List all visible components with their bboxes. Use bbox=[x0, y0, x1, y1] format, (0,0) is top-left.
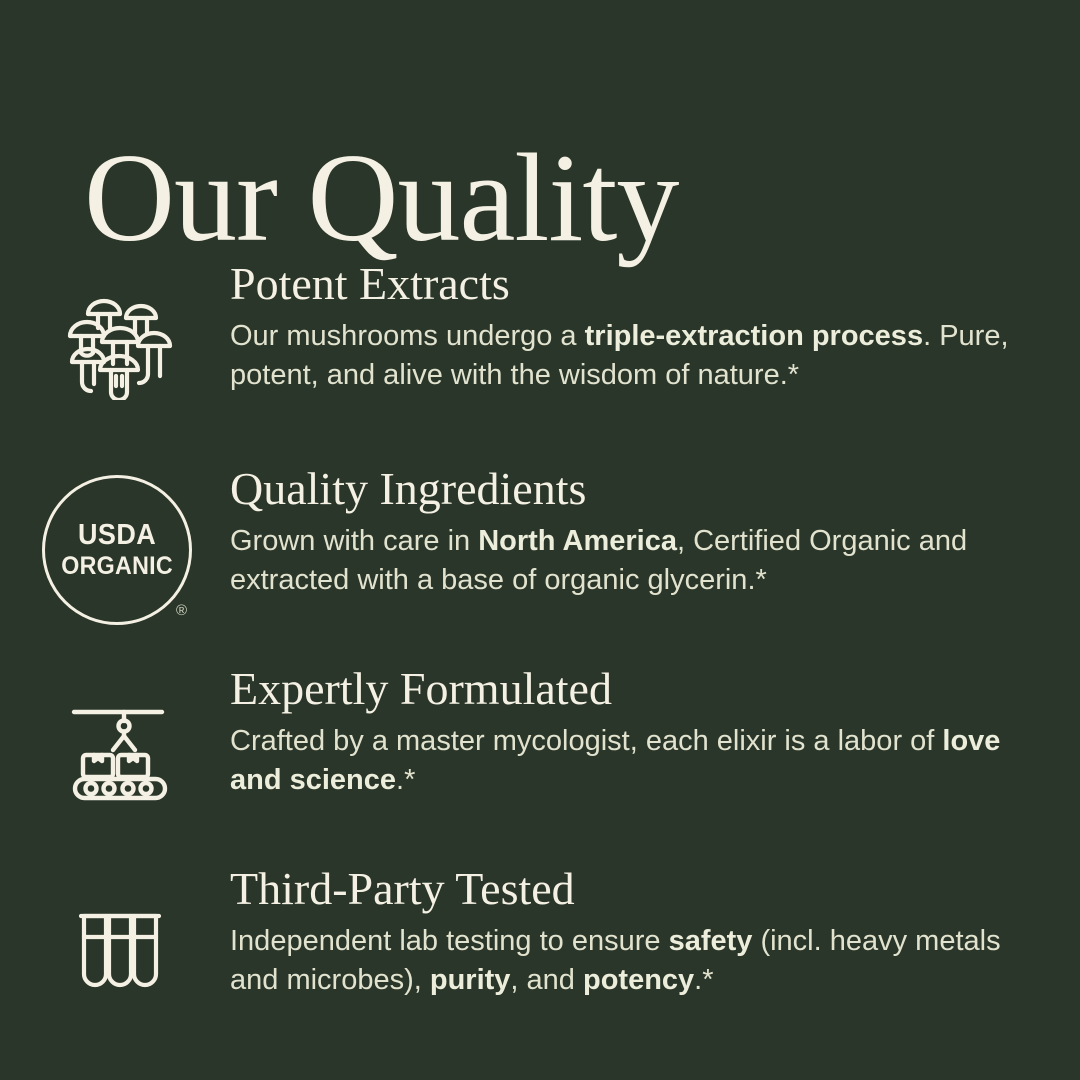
mushroom-cluster-icon bbox=[0, 248, 230, 448]
test-tubes-icon bbox=[0, 853, 230, 1053]
feature-text: Expertly Formulated Crafted by a master … bbox=[230, 653, 1080, 800]
feature-description: Grown with care in North America, Certif… bbox=[230, 522, 1030, 600]
page-title: Our Quality bbox=[84, 136, 678, 262]
feature-title: Quality Ingredients bbox=[230, 465, 1040, 514]
feature-title: Expertly Formulated bbox=[230, 665, 1040, 714]
feature-row-quality-ingredients: USDA ORGANIC ® Quality Ingredients Grown… bbox=[0, 453, 1080, 653]
feature-row-expertly-formulated: Expertly Formulated Crafted by a master … bbox=[0, 653, 1080, 853]
feature-description: Our mushrooms undergo a triple-extractio… bbox=[230, 317, 1030, 395]
seal-line-usda: USDA bbox=[78, 518, 156, 552]
usda-organic-seal-icon: USDA ORGANIC ® bbox=[0, 453, 230, 653]
feature-text: Third-Party Tested Independent lab testi… bbox=[230, 853, 1080, 1000]
feature-description: Crafted by a master mycologist, each eli… bbox=[230, 722, 1030, 800]
quality-page: Our Quality bbox=[0, 0, 1080, 1080]
feature-text: Potent Extracts Our mushrooms undergo a … bbox=[230, 248, 1080, 395]
feature-title: Potent Extracts bbox=[230, 260, 1040, 309]
feature-row-potent-extracts: Potent Extracts Our mushrooms undergo a … bbox=[0, 248, 1080, 453]
seal-text: USDA ORGANIC bbox=[42, 475, 192, 625]
feature-description: Independent lab testing to ensure safety… bbox=[230, 922, 1030, 1000]
registered-trademark-mark: ® bbox=[176, 603, 187, 618]
conveyor-belt-icon bbox=[0, 653, 230, 853]
feature-row-third-party-tested: Third-Party Tested Independent lab testi… bbox=[0, 853, 1080, 1053]
seal-line-organic: ORGANIC bbox=[61, 552, 173, 582]
feature-text: Quality Ingredients Grown with care in N… bbox=[230, 453, 1080, 600]
feature-list: Potent Extracts Our mushrooms undergo a … bbox=[0, 248, 1080, 1053]
usda-seal: USDA ORGANIC ® bbox=[42, 475, 198, 631]
feature-title: Third-Party Tested bbox=[230, 865, 1040, 914]
